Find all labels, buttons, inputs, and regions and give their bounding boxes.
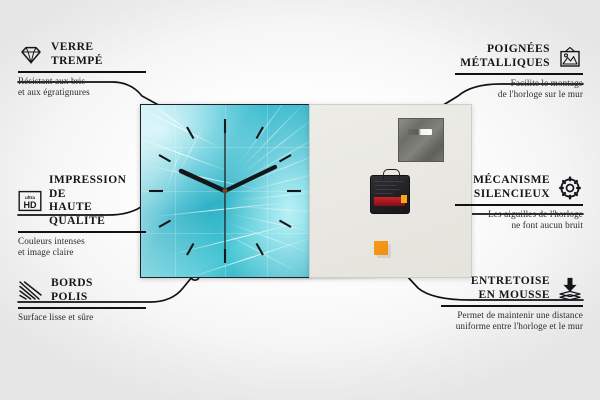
svg-text:HD: HD — [24, 200, 37, 210]
tick-1 — [257, 127, 264, 139]
feature-rule — [18, 71, 146, 73]
picture-hanger-icon — [557, 46, 583, 68]
feature-rule — [455, 73, 583, 75]
clock-center-cap — [222, 188, 227, 193]
battery-terminal — [401, 195, 407, 203]
metal-hanger-plate — [398, 118, 444, 162]
infographic-canvas: VERRE TREMPÉ Résistant aux bris et aux é… — [0, 0, 600, 400]
feature-subtitle: Résistant aux bris et aux égratignures — [18, 76, 146, 98]
clock-mechanism — [370, 175, 410, 214]
feature-subtitle: Couleurs intenses et image claire — [18, 236, 146, 258]
feature-title: VERRE TREMPÉ — [51, 41, 103, 68]
foam-spacer-icon — [557, 277, 583, 301]
foam-spacer — [374, 241, 388, 255]
feature-title: POIGNÉES MÉTALLIQUES — [460, 43, 550, 70]
hour-hand — [181, 171, 225, 191]
minute-hand — [225, 167, 275, 191]
feature-subtitle: Surface lisse et sûre — [18, 312, 146, 323]
feature-entretoise-en-mousse: ENTRETOISE EN MOUSSE Permet de maintenir… — [441, 275, 583, 332]
front-glass-panel — [140, 104, 310, 278]
feature-verre-trempe: VERRE TREMPÉ Résistant aux bris et aux é… — [18, 41, 146, 98]
ultra-hd-icon: ultra HD — [18, 190, 42, 212]
feature-mecanisme-silencieux: MÉCANISME SILENCIEUX — [455, 174, 583, 231]
feature-title: IMPRESSION DE HAUTE QUALITÉ — [49, 174, 146, 228]
feature-rule — [18, 231, 146, 233]
feature-subtitle: Facilite le montage de l'horloge sur le … — [455, 78, 583, 100]
tick-4 — [280, 221, 292, 228]
hatched-edge-icon — [18, 280, 44, 302]
feature-rule — [455, 204, 583, 206]
clock-face — [141, 105, 309, 277]
feature-impression-haute-qualite: ultra HD IMPRESSION DE HAUTE QUALITÉ Cou… — [18, 174, 146, 258]
feature-poignees-metalliques: POIGNÉES MÉTALLIQUES Facilite le montage… — [455, 43, 583, 100]
feature-title: ENTRETOISE EN MOUSSE — [471, 275, 550, 302]
back-panel — [309, 104, 472, 278]
diamond-icon — [18, 45, 44, 65]
tick-2 — [280, 155, 292, 162]
mechanism-bail — [383, 169, 400, 179]
tick-7 — [187, 244, 194, 256]
tick-10 — [159, 155, 171, 162]
product-wall-clock — [140, 104, 470, 276]
gear-icon — [557, 176, 583, 200]
tick-5 — [257, 244, 264, 256]
feature-subtitle: Les aiguilles de l'horloge ne font aucun… — [455, 209, 583, 231]
feature-title: BORDS POLIS — [51, 277, 93, 304]
feature-rule — [441, 305, 583, 307]
feature-subtitle: Permet de maintenir une distance uniform… — [441, 310, 583, 332]
hanger-slot — [408, 129, 432, 135]
feature-bords-polis: BORDS POLIS Surface lisse et sûre — [18, 277, 146, 323]
tick-11 — [187, 127, 194, 139]
feature-rule — [18, 307, 146, 309]
tick-8 — [159, 221, 171, 228]
feature-title: MÉCANISME SILENCIEUX — [473, 174, 550, 201]
